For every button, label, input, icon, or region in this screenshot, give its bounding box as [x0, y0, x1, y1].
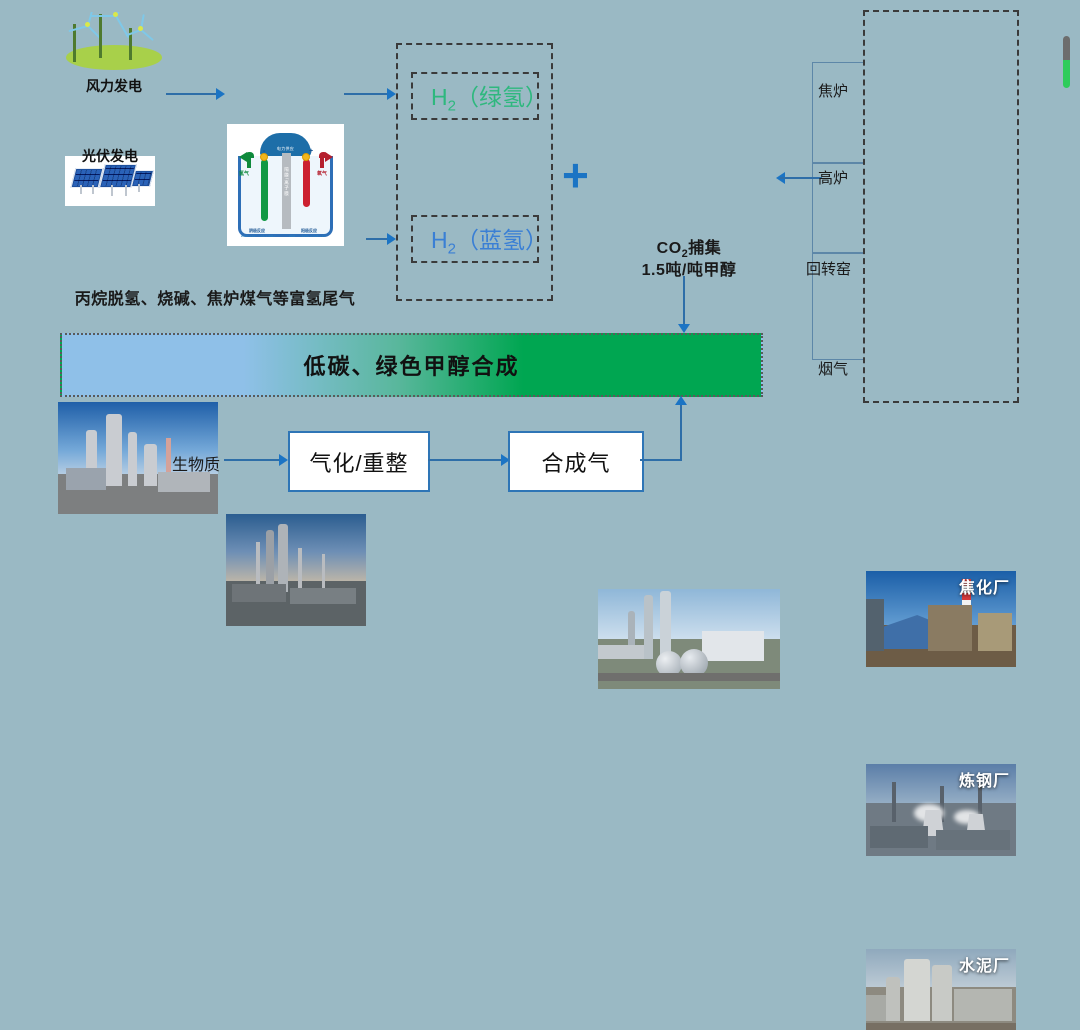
anode-sign: +	[309, 148, 313, 155]
line-syngas-up	[680, 404, 682, 460]
hydrogen-gas-label: 氢气	[239, 170, 249, 177]
arrow-gasification-to-syngas	[428, 459, 502, 461]
steel-plant-label: 炼钢厂	[959, 767, 1010, 791]
refinery-photo-2	[226, 514, 366, 626]
arrow-head-green-h2	[387, 88, 396, 100]
diagram-canvas: 风力发电 光伏发电 电力供应 隔膜/离子膜 氢气	[0, 0, 1080, 515]
syngas-label: 合成气	[541, 446, 610, 478]
oxygen-gas-label: 氧气	[317, 170, 327, 177]
arrow-head-gasification	[279, 454, 288, 466]
gasification-reforming-box[interactable]: 气化/重整	[288, 431, 430, 492]
arrow-head-co2-down	[678, 324, 690, 333]
methanol-synthesis-label: 低碳、绿色甲醇合成	[303, 349, 519, 381]
water-electrolysis-diagram: 电力供应 隔膜/离子膜 氢气 氧气 - + 阴极反应 2H₂O + 2e⁻ → …	[227, 124, 344, 246]
wind-power-label: 风力发电	[60, 76, 168, 96]
arrow-power-to-electrolyser	[166, 93, 218, 95]
co2-title-rest: 捕集	[688, 240, 721, 257]
power-supply-dome: 电力供应	[260, 133, 312, 156]
h2-sub-blue: 2	[448, 240, 456, 257]
cathode-sign: -	[263, 148, 265, 155]
membrane-label: 隔膜/离子膜	[283, 167, 289, 197]
bracket-divider-1	[812, 162, 864, 164]
arrow-biomass-to-gasification	[224, 459, 280, 461]
page-scrollbar[interactable]	[1063, 36, 1070, 88]
cement-plant-photo: 水泥厂	[866, 949, 1016, 1030]
arrow-head-power	[216, 88, 225, 100]
h2-name-green: （绿氢）	[456, 84, 548, 110]
cement-plant-label: 水泥厂	[959, 952, 1010, 976]
oxygen-arrow	[315, 152, 333, 168]
anode-equation: 2OH⁻ → 1/2O₂ + H₂O + 2e⁻	[289, 234, 327, 238]
hill-shape	[66, 45, 161, 70]
bracket-divider-2	[812, 252, 864, 254]
blue-hydrogen-box[interactable]: H2（蓝氢）	[411, 215, 539, 263]
h2-formula-green: H	[431, 84, 448, 110]
h2-sub-green: 2	[448, 97, 456, 114]
emission-sources-container	[863, 10, 1019, 403]
green-hydrogen-label: H2（绿氢）	[431, 78, 548, 115]
syngas-box[interactable]: 合成气	[508, 431, 644, 492]
cathode-rod	[261, 159, 268, 221]
biomass-source-label: 生物质	[172, 451, 220, 475]
anode-rod	[303, 159, 310, 207]
arrow-head-syngas-up	[675, 396, 687, 405]
connector-label-coke-oven: 焦炉	[818, 80, 848, 101]
coking-plant-photo: 焦化厂	[866, 571, 1016, 667]
bracket-stem	[780, 177, 814, 179]
hydrogen-rich-tail-gas-caption: 丙烷脱氢、烧碱、焦炉煤气等富氢尾气	[50, 285, 380, 309]
hydrogen-arrow	[239, 152, 257, 168]
membrane: 隔膜/离子膜	[282, 153, 291, 229]
co2-title-main: CO	[657, 240, 682, 257]
h2-name-blue: （蓝氢）	[456, 227, 548, 253]
arrow-head-blue-h2	[387, 233, 396, 245]
dome-label: 电力供应	[260, 146, 312, 152]
green-hydrogen-box[interactable]: H2（绿氢）	[411, 72, 539, 120]
h2-formula-blue: H	[431, 227, 448, 253]
gasification-reforming-label: 气化/重整	[309, 446, 408, 478]
steel-plant-photo: 炼钢厂	[866, 764, 1016, 856]
solar-power-label: 光伏发电	[60, 146, 160, 166]
arrow-electrolyser-to-green-h2	[344, 93, 388, 95]
blue-hydrogen-label: H2（蓝氢）	[431, 221, 548, 258]
arrow-co2-to-bar	[683, 276, 685, 328]
connector-label-flue-gas: 烟气	[818, 358, 848, 379]
emission-source-bracket	[812, 62, 864, 360]
wind-turbine-icon	[60, 12, 168, 74]
co2-capture-subtitle: 1.5吨/吨甲醇	[598, 256, 780, 280]
arrow-tailgas-to-blue-h2	[366, 238, 388, 240]
plus-sign: +	[562, 152, 589, 198]
connector-label-blast-furnace: 高炉	[818, 167, 848, 188]
co2-capture-plant-photo	[598, 589, 780, 689]
connector-label-rotary-kiln: 回转窑	[806, 258, 851, 279]
coking-plant-label: 焦化厂	[959, 574, 1010, 598]
methanol-synthesis-bar: 低碳、绿色甲醇合成	[60, 333, 763, 397]
line-syngas-right	[640, 459, 682, 461]
cathode-equation: 2H₂O + 2e⁻ → H₂ + 2OH⁻	[241, 234, 276, 238]
